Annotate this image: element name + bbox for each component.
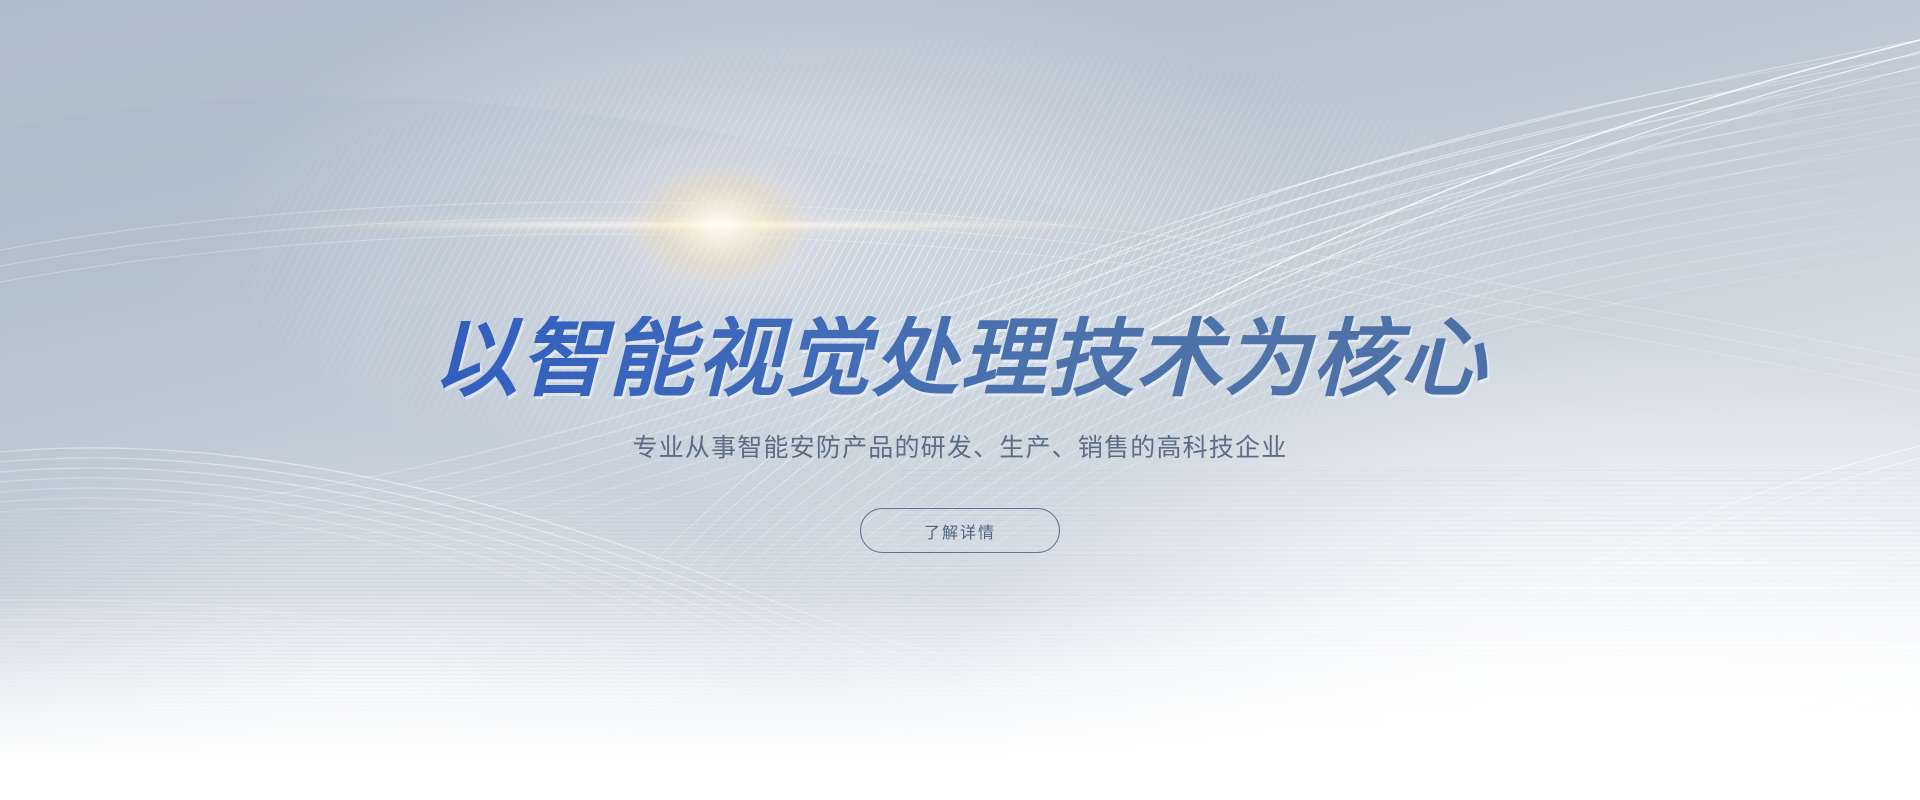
hero-subtitle: 专业从事智能安防产品的研发、生产、销售的高科技企业 [0, 428, 1920, 464]
hero-content: 以智能视觉处理技术为核心 专业从事智能安防产品的研发、生产、销售的高科技企业 了… [0, 0, 1920, 800]
hero-headline: 以智能视觉处理技术为核心 [0, 316, 1920, 402]
cta-container: 了解详情 [0, 508, 1920, 553]
learn-more-button[interactable]: 了解详情 [860, 508, 1060, 553]
hero-banner: 以智能视觉处理技术为核心 专业从事智能安防产品的研发、生产、销售的高科技企业 了… [0, 0, 1920, 800]
